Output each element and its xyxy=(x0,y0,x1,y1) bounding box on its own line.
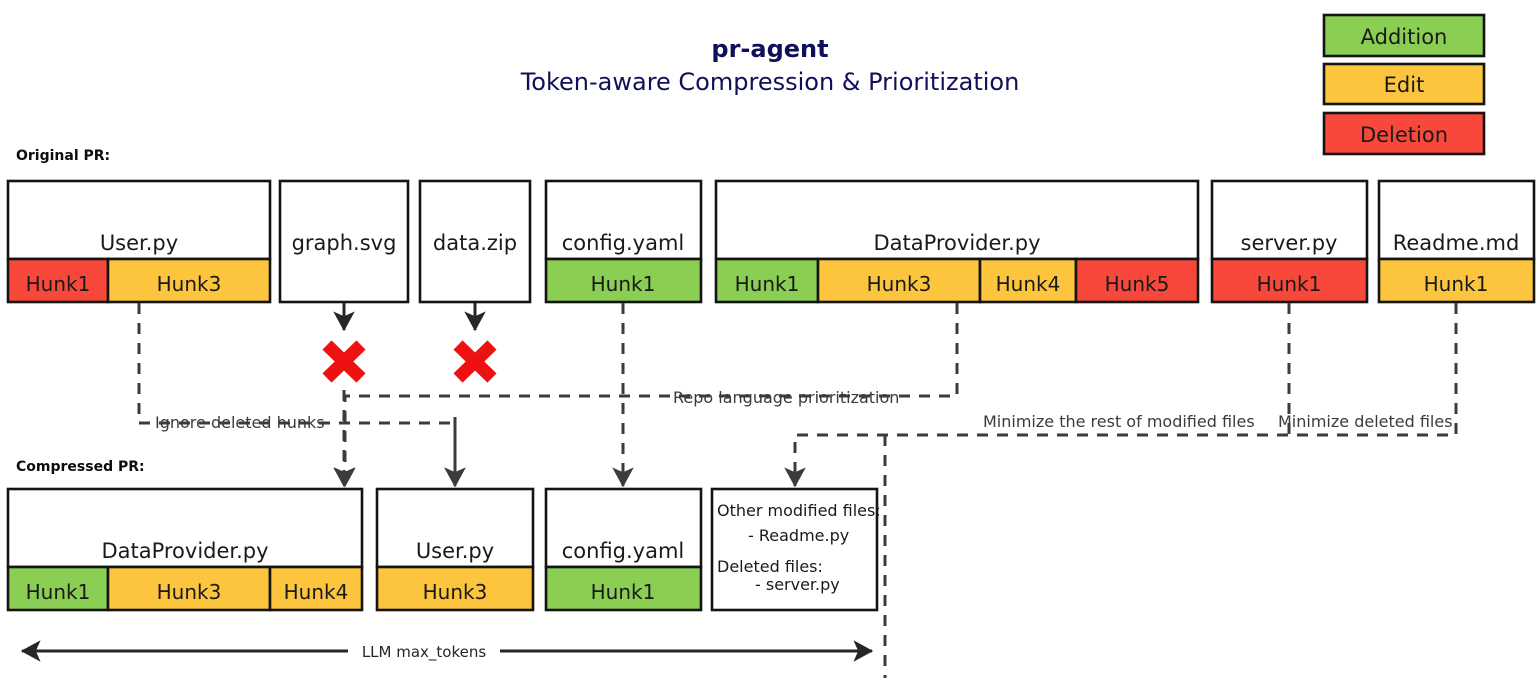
original-file-data-zip: data.zip xyxy=(420,181,530,302)
file-name: DataProvider.py xyxy=(101,539,268,563)
hunk-label: Hunk3 xyxy=(423,580,488,604)
legend-label-addition: Addition xyxy=(1361,25,1448,49)
hunk-label: Hunk1 xyxy=(735,272,800,296)
original-file-graph-svg: graph.svg xyxy=(280,181,408,302)
edge-label-minimize-modified: Minimize the rest of modified files xyxy=(983,412,1255,431)
hunk-label: Hunk3 xyxy=(157,580,222,604)
legend: Addition Edit Deletion xyxy=(1324,15,1484,154)
discard-graph-svg xyxy=(327,303,361,378)
compressed-file-config-yaml: config.yaml Hunk1 xyxy=(546,489,701,610)
hunk-label: Hunk1 xyxy=(591,272,656,296)
llm-max-tokens-label: LLM max_tokens xyxy=(362,643,487,662)
summary-other-modified-heading: Other modified files: xyxy=(717,501,881,520)
original-file-server-py: server.py Hunk1 xyxy=(1212,181,1367,302)
discard-data-zip xyxy=(458,303,492,378)
hunk-label: Hunk3 xyxy=(867,272,932,296)
page-title: pr-agent Token-aware Compression & Prior… xyxy=(520,35,1020,96)
legend-item-deletion: Deletion xyxy=(1324,113,1484,154)
legend-item-addition: Addition xyxy=(1324,15,1484,56)
compressed-pr-label: Compressed PR: xyxy=(16,459,145,475)
original-file-dataprovider-py: DataProvider.py Hunk1 Hunk3 Hunk4 Hunk5 xyxy=(716,181,1198,302)
original-file-config-yaml: config.yaml Hunk1 xyxy=(546,181,701,302)
summary-other-modified-item: - Readme.py xyxy=(748,526,849,545)
file-name: DataProvider.py xyxy=(873,231,1040,255)
hunk-label: Hunk1 xyxy=(1257,272,1322,296)
original-file-user-py: User.py Hunk1 Hunk3 xyxy=(8,181,270,302)
original-file-readme-md: Readme.md Hunk1 xyxy=(1379,181,1534,302)
file-name: graph.svg xyxy=(292,231,397,255)
cross-icon xyxy=(327,345,361,378)
compressed-file-dataprovider-py: DataProvider.py Hunk1 Hunk3 Hunk4 xyxy=(8,489,362,610)
llm-max-tokens-measure: LLM max_tokens xyxy=(22,643,872,662)
title-main: pr-agent xyxy=(711,35,828,63)
compressed-file-user-py: User.py Hunk3 xyxy=(377,489,533,610)
file-name: User.py xyxy=(416,539,494,563)
hunk-label: Hunk4 xyxy=(996,272,1061,296)
hunk-label: Hunk5 xyxy=(1105,272,1170,296)
edge-label-ignore-deleted-hunks: Ignore deleted hunks xyxy=(155,413,325,432)
file-name: config.yaml xyxy=(562,539,685,563)
summary-deleted-heading: Deleted files: xyxy=(717,557,823,576)
legend-label-edit: Edit xyxy=(1384,73,1425,97)
compressed-summary-box: Other modified files: - Readme.py Delete… xyxy=(712,489,881,610)
original-pr-label: Original PR: xyxy=(16,148,110,164)
file-name: Readme.md xyxy=(1393,231,1520,255)
file-name: config.yaml xyxy=(562,231,685,255)
edge-label-minimize-deleted: Minimize deleted files xyxy=(1278,412,1453,431)
title-subtitle: Token-aware Compression & Prioritization xyxy=(520,68,1020,96)
legend-item-edit: Edit xyxy=(1324,64,1484,104)
hunk-label: Hunk1 xyxy=(591,580,656,604)
edge-label-repo-language-prioritization: Repo language prioritization xyxy=(673,388,899,407)
pr-agent-compression-diagram: pr-agent Token-aware Compression & Prior… xyxy=(0,0,1540,678)
summary-deleted-item: - server.py xyxy=(755,575,840,594)
legend-label-deletion: Deletion xyxy=(1360,123,1448,147)
hunk-label: Hunk1 xyxy=(1424,272,1489,296)
hunk-label: Hunk1 xyxy=(26,272,91,296)
hunk-label: Hunk1 xyxy=(26,580,91,604)
file-name: server.py xyxy=(1241,231,1338,255)
hunk-label: Hunk3 xyxy=(157,272,222,296)
file-name: User.py xyxy=(100,231,178,255)
file-name: data.zip xyxy=(433,231,517,255)
hunk-label: Hunk4 xyxy=(284,580,349,604)
cross-icon xyxy=(458,345,492,378)
